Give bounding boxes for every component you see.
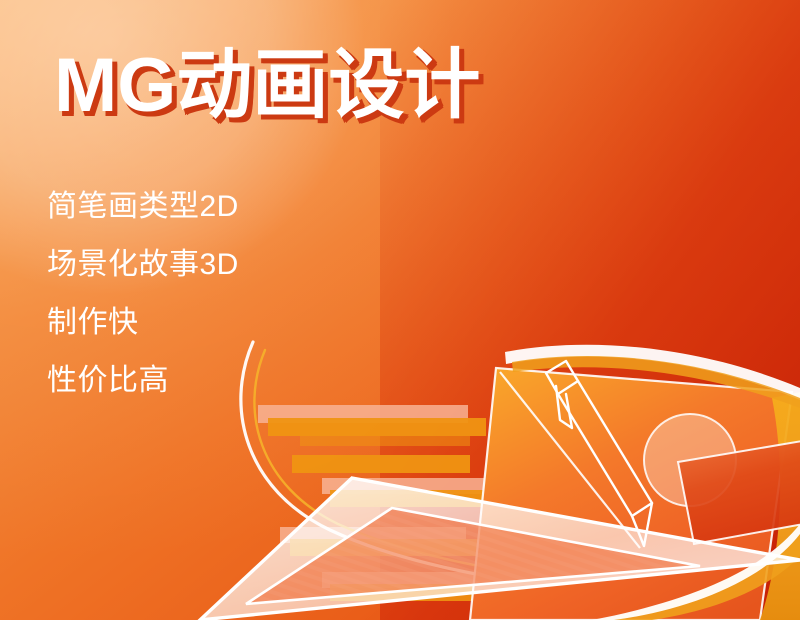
promo-banner: MG动画设计 简笔画类型2D 场景化故事3D 制作快 性价比高 xyxy=(0,0,800,620)
banner-artwork xyxy=(0,0,800,620)
